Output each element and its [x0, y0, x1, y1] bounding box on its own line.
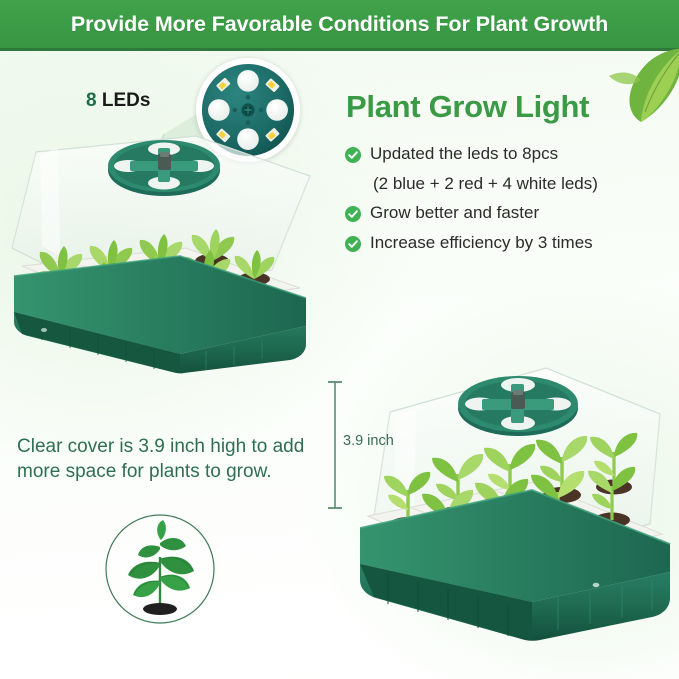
infographic-page: Provide More Favorable Conditions For Pl…: [0, 0, 679, 679]
leds-count-label: 8 LEDs: [86, 90, 150, 112]
leds-count-word: LEDs: [102, 90, 151, 111]
plant-icon: [128, 520, 194, 615]
feature-item: Updated the leds to 8pcs: [345, 144, 675, 164]
feature-label: Grow better and faster: [370, 203, 539, 223]
clear-cover-note: Clear cover is 3.9 inch high to add more…: [17, 434, 327, 485]
product-image-tray-with-dome-bottom: [350, 352, 679, 652]
check-circle-icon: [345, 147, 361, 163]
product-image-tray-with-dome-top: [0, 130, 330, 375]
led-cap-top: [108, 140, 220, 196]
plant-illustration-badge: [104, 513, 216, 625]
page-title: Provide More Favorable Conditions For Pl…: [71, 12, 608, 37]
feature-item-sub: (2 blue + 2 red + 4 white leds): [345, 174, 675, 194]
check-circle-icon: [345, 206, 361, 222]
feature-label: Updated the leds to 8pcs: [370, 144, 558, 164]
product-title: Plant Grow Light: [346, 89, 589, 125]
dimension-line-icon: [327, 378, 343, 512]
dimension-label: 3.9 inch: [343, 433, 394, 449]
feature-list: Updated the leds to 8pcs (2 blue + 2 red…: [345, 144, 675, 262]
feature-label: Increase efficiency by 3 times: [370, 233, 593, 253]
feature-item: Grow better and faster: [345, 203, 675, 223]
leaf-decoration-icon: [589, 46, 679, 132]
feature-item: Increase efficiency by 3 times: [345, 233, 675, 253]
check-circle-icon: [345, 236, 361, 252]
header-divider: [0, 48, 679, 51]
feature-label: (2 blue + 2 red + 4 white leds): [373, 174, 598, 194]
leds-count-number: 8: [86, 90, 97, 111]
header-banner: Provide More Favorable Conditions For Pl…: [0, 0, 679, 48]
led-cap-bottom: [458, 376, 578, 436]
